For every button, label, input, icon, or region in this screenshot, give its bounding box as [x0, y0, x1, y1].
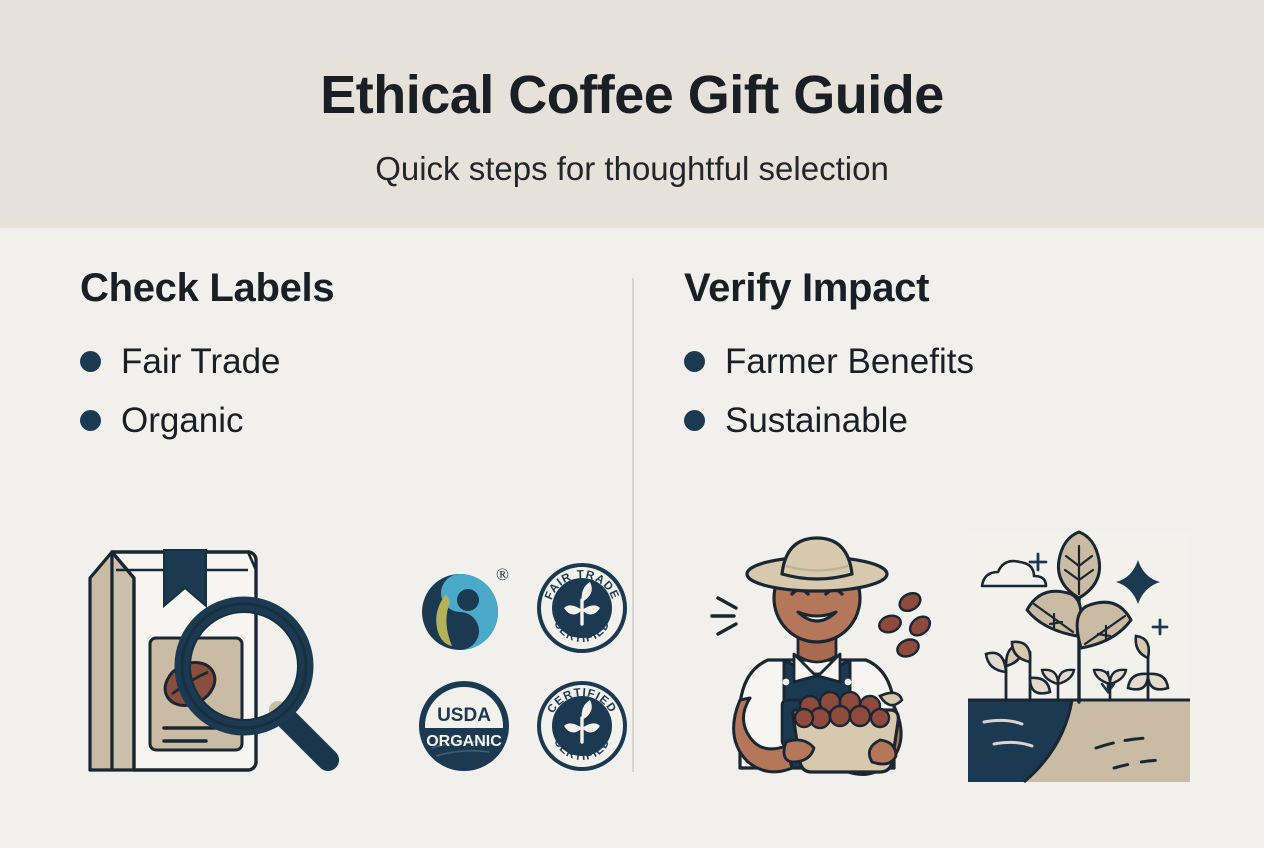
header-band: Ethical Coffee Gift Guide Quick steps fo…: [0, 0, 1264, 228]
column-heading-verify-impact: Verify Impact: [684, 268, 1204, 308]
growing-plants-landscape-illustration: [968, 532, 1190, 782]
column-verify-impact: Verify Impact Farmer Benefits Sustainabl…: [684, 268, 1204, 462]
column-check-labels: Check Labels Fair Trade Organic: [80, 268, 610, 462]
badge-grid: ®: [416, 560, 630, 774]
coffee-bag-magnifier-illustration: [72, 526, 362, 788]
bullet-label: Sustainable: [725, 403, 908, 438]
registered-trademark-glyph: ®: [496, 565, 509, 584]
bullet-dot-icon: [80, 351, 101, 372]
infographic-page: Ethical Coffee Gift Guide Quick steps fo…: [0, 0, 1264, 848]
bullet-dot-icon: [684, 351, 705, 372]
page-subtitle: Quick steps for thoughtful selection: [0, 152, 1264, 185]
fairtrade-mark-badge: ®: [416, 560, 512, 656]
usda-bottom-text: ORGANIC: [426, 733, 502, 750]
bullet-label: Fair Trade: [121, 344, 281, 379]
bullet-list-verify-impact: Farmer Benefits Sustainable: [684, 344, 1204, 438]
usda-organic-badge: USDA ORGANIC: [416, 678, 512, 774]
list-item: Organic: [80, 403, 610, 438]
list-item: Fair Trade: [80, 344, 610, 379]
usda-top-text: USDA: [437, 705, 491, 726]
smiling-farmer-with-cherry-basket-illustration: [682, 524, 962, 786]
bullet-list-check-labels: Fair Trade Organic: [80, 344, 610, 438]
column-heading-check-labels: Check Labels: [80, 268, 610, 308]
bullet-dot-icon: [80, 410, 101, 431]
list-item: Farmer Benefits: [684, 344, 1204, 379]
page-title: Ethical Coffee Gift Guide: [0, 68, 1264, 122]
certification-badges-group: ®: [356, 538, 606, 778]
bullet-dot-icon: [684, 410, 705, 431]
certified-seal: CERTIFIED CERTIFIED: [534, 678, 630, 774]
artwork-verify-impact: [676, 518, 1206, 788]
fair-trade-certified-seal: FAIR TRADE CERTIFIED: [534, 560, 630, 656]
bullet-label: Farmer Benefits: [725, 344, 974, 379]
bullet-label: Organic: [121, 403, 244, 438]
column-divider: [632, 278, 634, 772]
artwork-check-labels: ®: [60, 518, 620, 788]
list-item: Sustainable: [684, 403, 1204, 438]
